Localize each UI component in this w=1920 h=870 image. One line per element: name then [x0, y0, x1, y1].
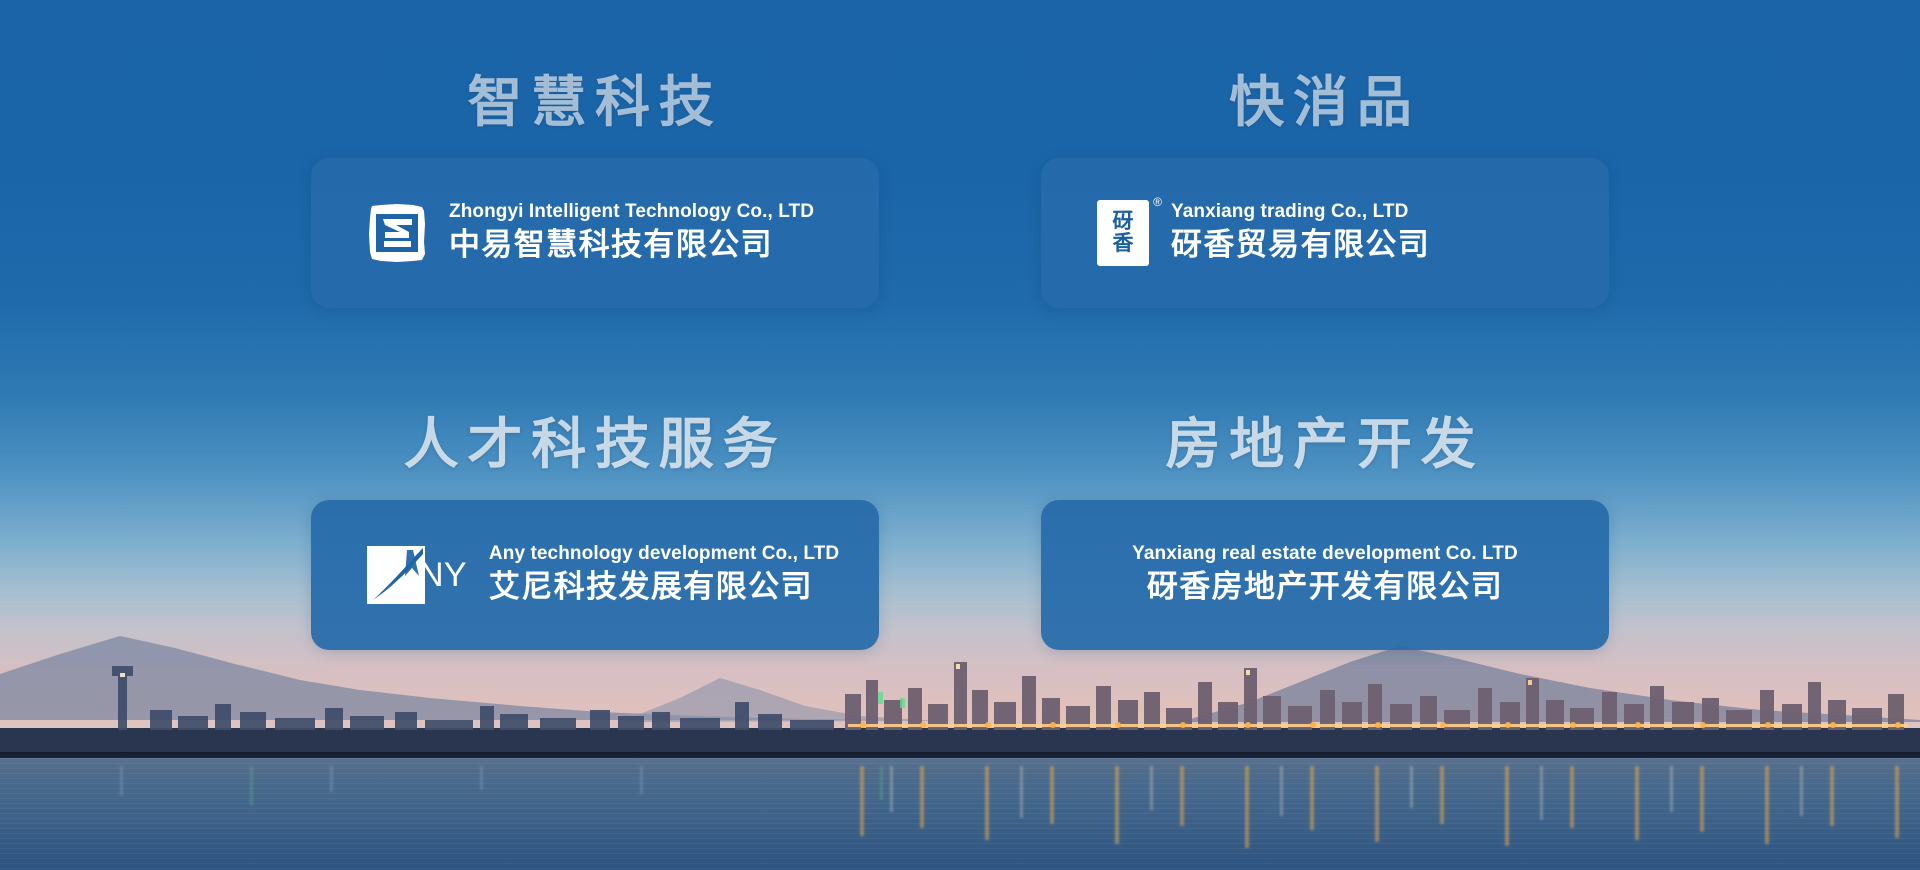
- segment-talent-services: 人才科技服务 NY Any technology development Co.…: [230, 396, 960, 720]
- company-name-en-any: Any technology development Co., LTD: [489, 542, 839, 566]
- company-names-any: Any technology development Co., LTD 艾尼科技…: [489, 542, 839, 608]
- any-logo-text: NY: [419, 558, 467, 592]
- company-names-yanxiang-trading: Yanxiang trading Co., LTD 砑香贸易有限公司: [1171, 200, 1430, 266]
- any-mountain-icon: NY: [367, 546, 467, 604]
- yanxiang-seal-icon: 砑 香 ®: [1097, 200, 1149, 266]
- company-names-zhongyi: Zhongyi Intelligent Technology Co., LTD …: [449, 200, 814, 266]
- segment-heading-fmcg: 快消品: [1229, 72, 1420, 134]
- company-name-en-zhongyi: Zhongyi Intelligent Technology Co., LTD: [449, 200, 814, 224]
- seal-char-bottom: 香: [1113, 233, 1134, 254]
- company-name-cn-yanxiang-real-estate: 砑香房地产开发有限公司: [1147, 567, 1503, 607]
- zhongyi-z-stamp-icon: [367, 202, 427, 264]
- company-card-zhongyi[interactable]: Zhongyi Intelligent Technology Co., LTD …: [311, 158, 879, 308]
- company-card-yanxiang-trading[interactable]: 砑 香 ® Yanxiang trading Co., LTD 砑香贸易有限公司: [1041, 158, 1609, 308]
- segment-real-estate: 房地产开发 Yanxiang real estate development C…: [960, 396, 1690, 720]
- company-names-yanxiang-real-estate: Yanxiang real estate development Co. LTD…: [1132, 542, 1518, 608]
- segment-heading-smart-technology: 智慧科技: [467, 72, 722, 134]
- seal-char-top: 砑: [1113, 211, 1134, 232]
- segment-smart-technology: 智慧科技 Zhongyi Intelligent Technology Co.,…: [230, 72, 960, 396]
- company-card-any[interactable]: NY Any technology development Co., LTD 艾…: [311, 500, 879, 650]
- segment-fmcg: 快消品 砑 香 ® Yanxiang trading Co., LTD 砑香贸易…: [960, 72, 1690, 396]
- company-name-cn-any: 艾尼科技发展有限公司: [489, 567, 839, 607]
- company-name-en-yanxiang-real-estate: Yanxiang real estate development Co. LTD: [1132, 542, 1518, 566]
- segments-grid: 智慧科技 Zhongyi Intelligent Technology Co.,…: [0, 0, 1920, 870]
- segment-heading-talent-services: 人才科技服务: [404, 414, 787, 476]
- company-name-cn-yanxiang-trading: 砑香贸易有限公司: [1171, 225, 1430, 265]
- registered-trademark-icon: ®: [1153, 196, 1162, 208]
- company-name-en-yanxiang-trading: Yanxiang trading Co., LTD: [1171, 200, 1430, 224]
- segment-heading-real-estate: 房地产开发: [1165, 414, 1484, 476]
- company-name-cn-zhongyi: 中易智慧科技有限公司: [449, 225, 814, 265]
- company-card-yanxiang-real-estate[interactable]: Yanxiang real estate development Co. LTD…: [1041, 500, 1609, 650]
